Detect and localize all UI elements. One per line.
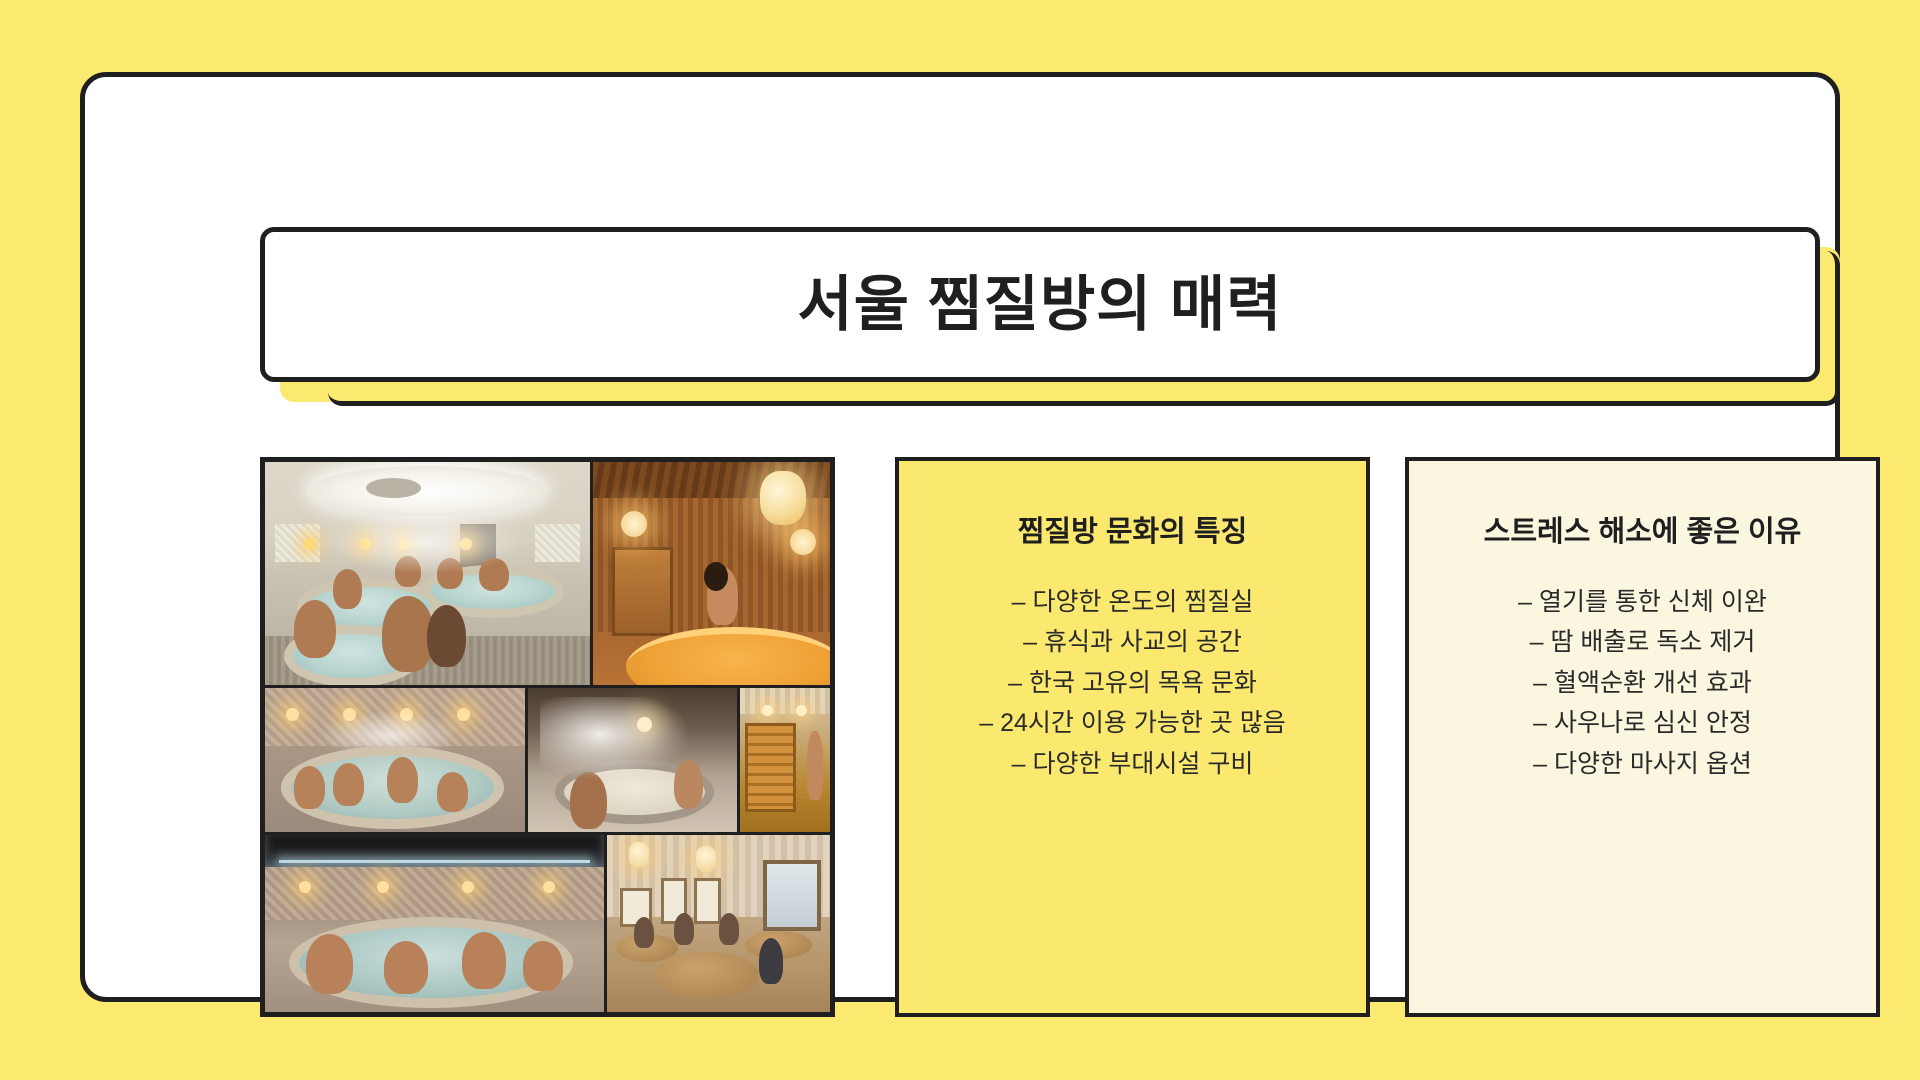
- collage-row-2: [265, 688, 830, 832]
- wood-shelving: [745, 723, 795, 812]
- photo-large-bath: [265, 835, 604, 1012]
- wall-lamp: [462, 881, 474, 893]
- title-block: 서울 찜질방의 매력: [260, 227, 1830, 387]
- jjimjilbang-photo-collage: [260, 457, 835, 1017]
- photo-wood-lockers: [740, 688, 830, 832]
- bather: [382, 596, 434, 672]
- wall-picture: [694, 878, 721, 924]
- ceiling-light-strip: [279, 860, 591, 863]
- list-item: – 다양한 부대시설 구비: [927, 744, 1338, 785]
- page-title: 서울 찜질방의 매력: [798, 275, 1283, 335]
- photo-bath-hall: [265, 462, 590, 685]
- card-stress-list: – 열기를 통한 신체 이완 – 땀 배출로 독소 제거 – 혈액순환 개선 효…: [1437, 582, 1848, 785]
- list-item: – 휴식과 사교의 공간: [927, 622, 1338, 663]
- wall-lamp: [304, 538, 316, 550]
- bather: [387, 757, 418, 803]
- window: [763, 860, 821, 931]
- bather: [437, 772, 468, 812]
- standing-person: [807, 731, 823, 800]
- card-culture-heading: 찜질방 문화의 특징: [927, 515, 1338, 550]
- wall-lamp: [762, 705, 773, 716]
- photo-wood-sauna: [593, 462, 830, 685]
- guest: [634, 917, 654, 949]
- wall-lamp: [377, 881, 389, 893]
- card-culture-list: – 다양한 온도의 찜질실 – 휴식과 사교의 공간 – 한국 고유의 목욕 문…: [927, 582, 1338, 785]
- bather: [384, 941, 428, 994]
- list-item: – 사우나로 심신 안정: [1437, 703, 1848, 744]
- photo-group-bath: [265, 688, 525, 832]
- tile-wall: [265, 867, 604, 920]
- list-item: – 24시간 이용 가능한 곳 많음: [927, 703, 1338, 744]
- ceiling: [740, 688, 830, 714]
- collage-row-3: [265, 835, 830, 1012]
- bather: [294, 600, 336, 658]
- ceiling-light-ring: [310, 466, 544, 515]
- bather: [523, 941, 564, 991]
- dining-table: [656, 952, 759, 998]
- pendant-lamp: [696, 846, 716, 872]
- photo-lounge-dining: [607, 835, 830, 1012]
- pendant-lamp: [629, 842, 649, 868]
- guest: [719, 913, 739, 945]
- list-item: – 다양한 온도의 찜질실: [927, 582, 1338, 623]
- guest: [759, 938, 784, 984]
- list-item: – 혈액순환 개선 효과: [1437, 663, 1848, 704]
- steam: [540, 697, 691, 781]
- ceiling-vent: [366, 478, 421, 498]
- list-item: – 땀 배출로 독소 제거: [1437, 622, 1848, 663]
- sauna-door: [612, 547, 674, 636]
- bather: [462, 932, 506, 989]
- list-item: – 다양한 마사지 옵션: [1437, 744, 1848, 785]
- wall-lamp: [299, 881, 311, 893]
- bather: [333, 569, 362, 609]
- wall-panel-right: [535, 524, 580, 562]
- card-stress-heading: 스트레스 해소에 좋은 이유: [1437, 515, 1848, 550]
- collage-row-1: [265, 462, 830, 685]
- wall-sconce: [790, 529, 816, 555]
- bather: [333, 763, 364, 806]
- wall-lamp: [796, 705, 807, 716]
- bather: [427, 605, 466, 667]
- card-stress: 스트레스 해소에 좋은 이유 – 열기를 통한 신체 이완 – 땀 배출로 독소…: [1405, 457, 1880, 1017]
- guest: [674, 913, 694, 945]
- wall-lamp: [286, 708, 299, 721]
- slide-frame: 서울 찜질방의 매력: [80, 72, 1840, 1002]
- steam: [323, 511, 524, 573]
- content-row: 찜질방 문화의 특징 – 다양한 온도의 찜질실 – 휴식과 사교의 공간 – …: [260, 457, 1830, 1017]
- bather: [294, 766, 325, 809]
- list-item: – 한국 고유의 목욕 문화: [927, 663, 1338, 704]
- bather: [570, 772, 608, 830]
- photo-steam-room: [528, 688, 737, 832]
- paper-lantern: [760, 471, 806, 525]
- title-card: 서울 찜질방의 매력: [260, 227, 1820, 382]
- bather: [306, 934, 353, 994]
- card-culture: 찜질방 문화의 특징 – 다양한 온도의 찜질실 – 휴식과 사교의 공간 – …: [895, 457, 1370, 1017]
- list-item: – 열기를 통한 신체 이완: [1437, 582, 1848, 623]
